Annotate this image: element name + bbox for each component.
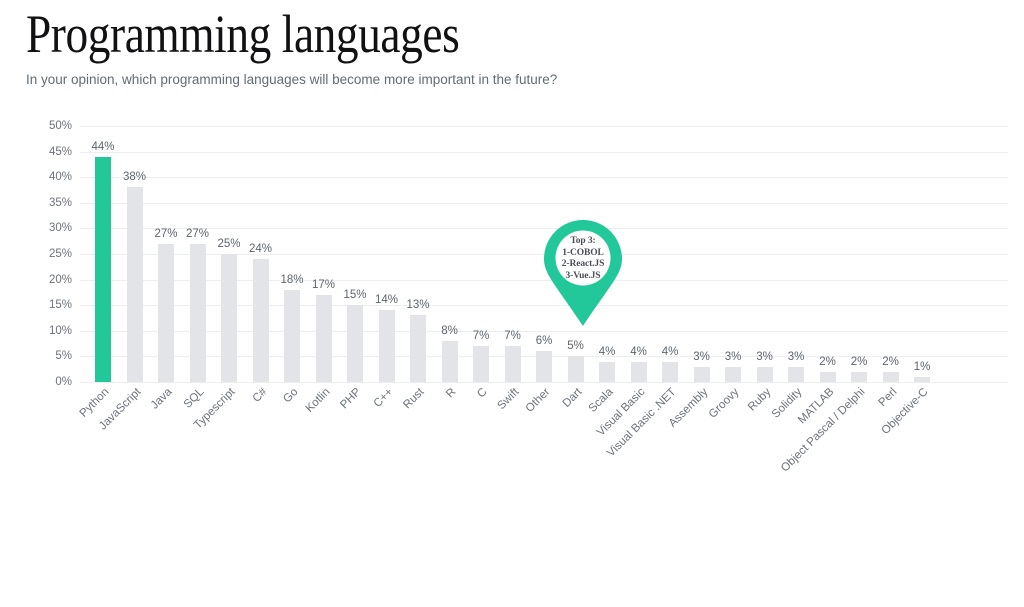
bar-value-label: 6% xyxy=(536,335,553,347)
bar[interactable] xyxy=(379,310,395,382)
bar-item[interactable]: 7% xyxy=(473,118,489,383)
bar[interactable] xyxy=(788,367,804,382)
bar-value-label: 2% xyxy=(851,356,868,368)
bar[interactable] xyxy=(599,362,615,382)
plot-area: 0%5%10%15%20%25%30%35%40%45%50% 44%38%27… xyxy=(0,118,1024,393)
bar-value-label: 14% xyxy=(375,294,398,306)
bar-item[interactable]: 38% xyxy=(127,118,143,383)
bar-value-label: 4% xyxy=(599,346,616,358)
bar-series: 44%38%27%27%25%24%18%17%15%14%13%8%7%7%6… xyxy=(0,118,1024,383)
bar-highlighted[interactable] xyxy=(95,157,111,382)
bar-item[interactable]: 2% xyxy=(851,118,867,383)
bar[interactable] xyxy=(253,259,269,382)
bar-item[interactable]: 3% xyxy=(788,118,804,383)
bar-value-label: 8% xyxy=(441,325,458,337)
bar-item[interactable]: 4% xyxy=(662,118,678,383)
bar-item[interactable]: 4% xyxy=(599,118,615,383)
bar[interactable] xyxy=(694,367,710,382)
bar-item[interactable]: 5% xyxy=(568,118,584,383)
bar[interactable] xyxy=(914,377,930,382)
bar-item[interactable]: 13% xyxy=(410,118,426,383)
bar-item[interactable]: 6% xyxy=(536,118,552,383)
bar-value-label: 3% xyxy=(788,351,805,363)
bar-item[interactable]: 44% xyxy=(95,118,111,383)
bar-item[interactable]: 3% xyxy=(725,118,741,383)
bar-value-label: 27% xyxy=(154,228,177,240)
bar[interactable] xyxy=(190,244,206,382)
bar-item[interactable]: 27% xyxy=(158,118,174,383)
bar-value-label: 3% xyxy=(693,351,710,363)
bar[interactable] xyxy=(347,305,363,382)
bar-value-label: 15% xyxy=(343,289,366,301)
bar-value-label: 17% xyxy=(312,279,335,291)
bar-item[interactable]: 2% xyxy=(883,118,899,383)
bar[interactable] xyxy=(473,346,489,382)
bar-value-label: 5% xyxy=(567,340,584,352)
bar-value-label: 4% xyxy=(630,346,647,358)
chart-header: Programming languages In your opinion, w… xyxy=(26,4,1006,87)
bar-item[interactable]: 14% xyxy=(379,118,395,383)
bar[interactable] xyxy=(505,346,521,382)
bar-item[interactable]: 15% xyxy=(347,118,363,383)
bar-value-label: 7% xyxy=(504,330,521,342)
bar[interactable] xyxy=(883,372,899,382)
bar-item[interactable]: 17% xyxy=(316,118,332,383)
bar-value-label: 2% xyxy=(819,356,836,368)
bar[interactable] xyxy=(536,351,552,382)
bar-value-label: 25% xyxy=(217,238,240,250)
bar[interactable] xyxy=(316,295,332,382)
bar[interactable] xyxy=(568,356,584,382)
bar-value-label: 3% xyxy=(756,351,773,363)
bar[interactable] xyxy=(221,254,237,382)
bar-item[interactable]: 24% xyxy=(253,118,269,383)
bar[interactable] xyxy=(158,244,174,382)
bar[interactable] xyxy=(757,367,773,382)
bar-value-label: 44% xyxy=(91,141,114,153)
bar[interactable] xyxy=(662,362,678,382)
bar-value-label: 1% xyxy=(914,361,931,373)
bar-value-label: 18% xyxy=(280,274,303,286)
chart-subtitle: In your opinion, which programming langu… xyxy=(26,72,1006,87)
bar-item[interactable]: 8% xyxy=(442,118,458,383)
bar[interactable] xyxy=(127,187,143,382)
bar-item[interactable]: 3% xyxy=(757,118,773,383)
bar-value-label: 3% xyxy=(725,351,742,363)
bar-value-label: 38% xyxy=(123,171,146,183)
bar-item[interactable]: 1% xyxy=(914,118,930,383)
bar-item[interactable]: 25% xyxy=(221,118,237,383)
bar[interactable] xyxy=(725,367,741,382)
bar[interactable] xyxy=(442,341,458,382)
x-axis: PythonJavaScriptJavaSQLTypescriptC#GoKot… xyxy=(0,386,1024,506)
bar-value-label: 24% xyxy=(249,243,272,255)
chart-page: Programming languages In your opinion, w… xyxy=(0,0,1024,509)
bar-value-label: 13% xyxy=(406,299,429,311)
bar-item[interactable]: 4% xyxy=(631,118,647,383)
bar-item[interactable]: 2% xyxy=(820,118,836,383)
bar-item[interactable]: 18% xyxy=(284,118,300,383)
bar[interactable] xyxy=(851,372,867,382)
bar[interactable] xyxy=(820,372,836,382)
bar-item[interactable]: 3% xyxy=(694,118,710,383)
bar-value-label: 7% xyxy=(473,330,490,342)
bar[interactable] xyxy=(284,290,300,382)
page-title: Programming languages xyxy=(26,4,849,64)
bar-value-label: 27% xyxy=(186,228,209,240)
bar[interactable] xyxy=(631,362,647,382)
bar-item[interactable]: 27% xyxy=(190,118,206,383)
bar-item[interactable]: 7% xyxy=(505,118,521,383)
bar-value-label: 4% xyxy=(662,346,679,358)
bar[interactable] xyxy=(410,315,426,382)
bar-value-label: 2% xyxy=(882,356,899,368)
